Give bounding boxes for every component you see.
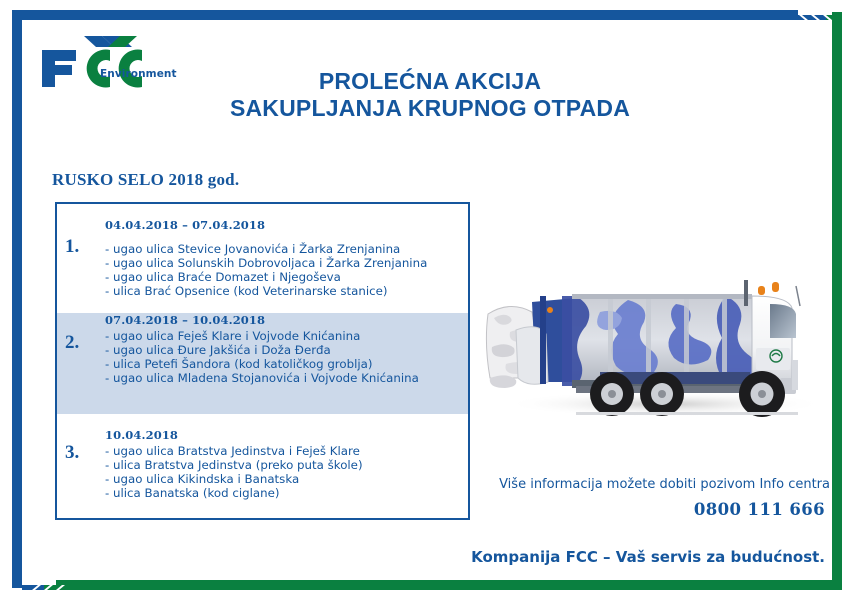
schedule-location-list: - ugao ulica Stevice Jovanovića i Žarka …: [105, 242, 462, 298]
chevron-decoration-top-right: [796, 10, 842, 20]
list-item: - ulica Petefi Šandora (kod katoličkog g…: [105, 357, 462, 371]
schedule-block-date: 07.04.2018 – 10.04.2018: [105, 313, 462, 327]
list-item: - ugao ulica Bratstva Jedinstva i Feješ …: [105, 444, 462, 458]
frame-border-left: [12, 10, 22, 588]
schedule-block: 04.04.2018 – 07.04.2018- ugao ulica Stev…: [57, 218, 468, 298]
page-title: PROLEĆNA AKCIJA SAKUPLJANJA KRUPNOG OTPA…: [180, 68, 680, 122]
list-item: - ugao ulica Braće Domazet i Njegoševa: [105, 270, 462, 284]
list-item: - ugao ulica Feješ Klare i Vojvode Knića…: [105, 329, 462, 343]
schedule-block-date: 04.04.2018 – 07.04.2018: [105, 218, 462, 232]
phone-number: 0800 111 666: [400, 500, 825, 519]
schedule-box: 1.04.04.2018 – 07.04.2018- ugao ulica St…: [55, 202, 470, 520]
list-item: - ulica Bratstva Jedinstva (preko puta š…: [105, 458, 462, 472]
company-tagline: Kompanija FCC – Vaš servis za budućnost.: [330, 548, 825, 566]
logo-subtitle: Environment: [100, 68, 177, 80]
title-line-1: PROLEĆNA AKCIJA: [180, 68, 680, 95]
garbage-truck-photo: [480, 252, 830, 437]
title-line-2: SAKUPLJANJA KRUPNOG OTPADA: [180, 95, 680, 122]
poster: Environment PROLEĆNA AKCIJA SAKUPLJANJA …: [0, 0, 866, 610]
schedule-block: 07.04.2018 – 10.04.2018- ugao ulica Feje…: [57, 313, 468, 385]
info-center-line: Više informacija možete dobiti pozivom I…: [400, 477, 830, 492]
location-year-subtitle: RUSKO SELO 2018 god.: [52, 170, 239, 190]
list-item: - ugao ulica Stevice Jovanovića i Žarka …: [105, 242, 462, 256]
schedule-location-list: - ugao ulica Feješ Klare i Vojvode Knića…: [105, 329, 462, 385]
frame-border-top: [12, 10, 798, 20]
list-item: - ugao ulica Solunskih Dobrovoljaca i Ža…: [105, 256, 462, 270]
list-item: - ugao ulica Đure Jakšića i Doža Đerđa: [105, 343, 462, 357]
list-item: - ulica Brać Opsenice (kod Veterinarske …: [105, 284, 462, 298]
list-item: - ugao ulica Mladena Stojanovića i Vojvo…: [105, 371, 462, 385]
schedule-block-date: 10.04.2018: [105, 428, 462, 442]
frame-border-bottom: [56, 580, 842, 590]
chevron-decoration-bottom-left: [22, 580, 68, 590]
frame-border-right: [832, 12, 842, 590]
